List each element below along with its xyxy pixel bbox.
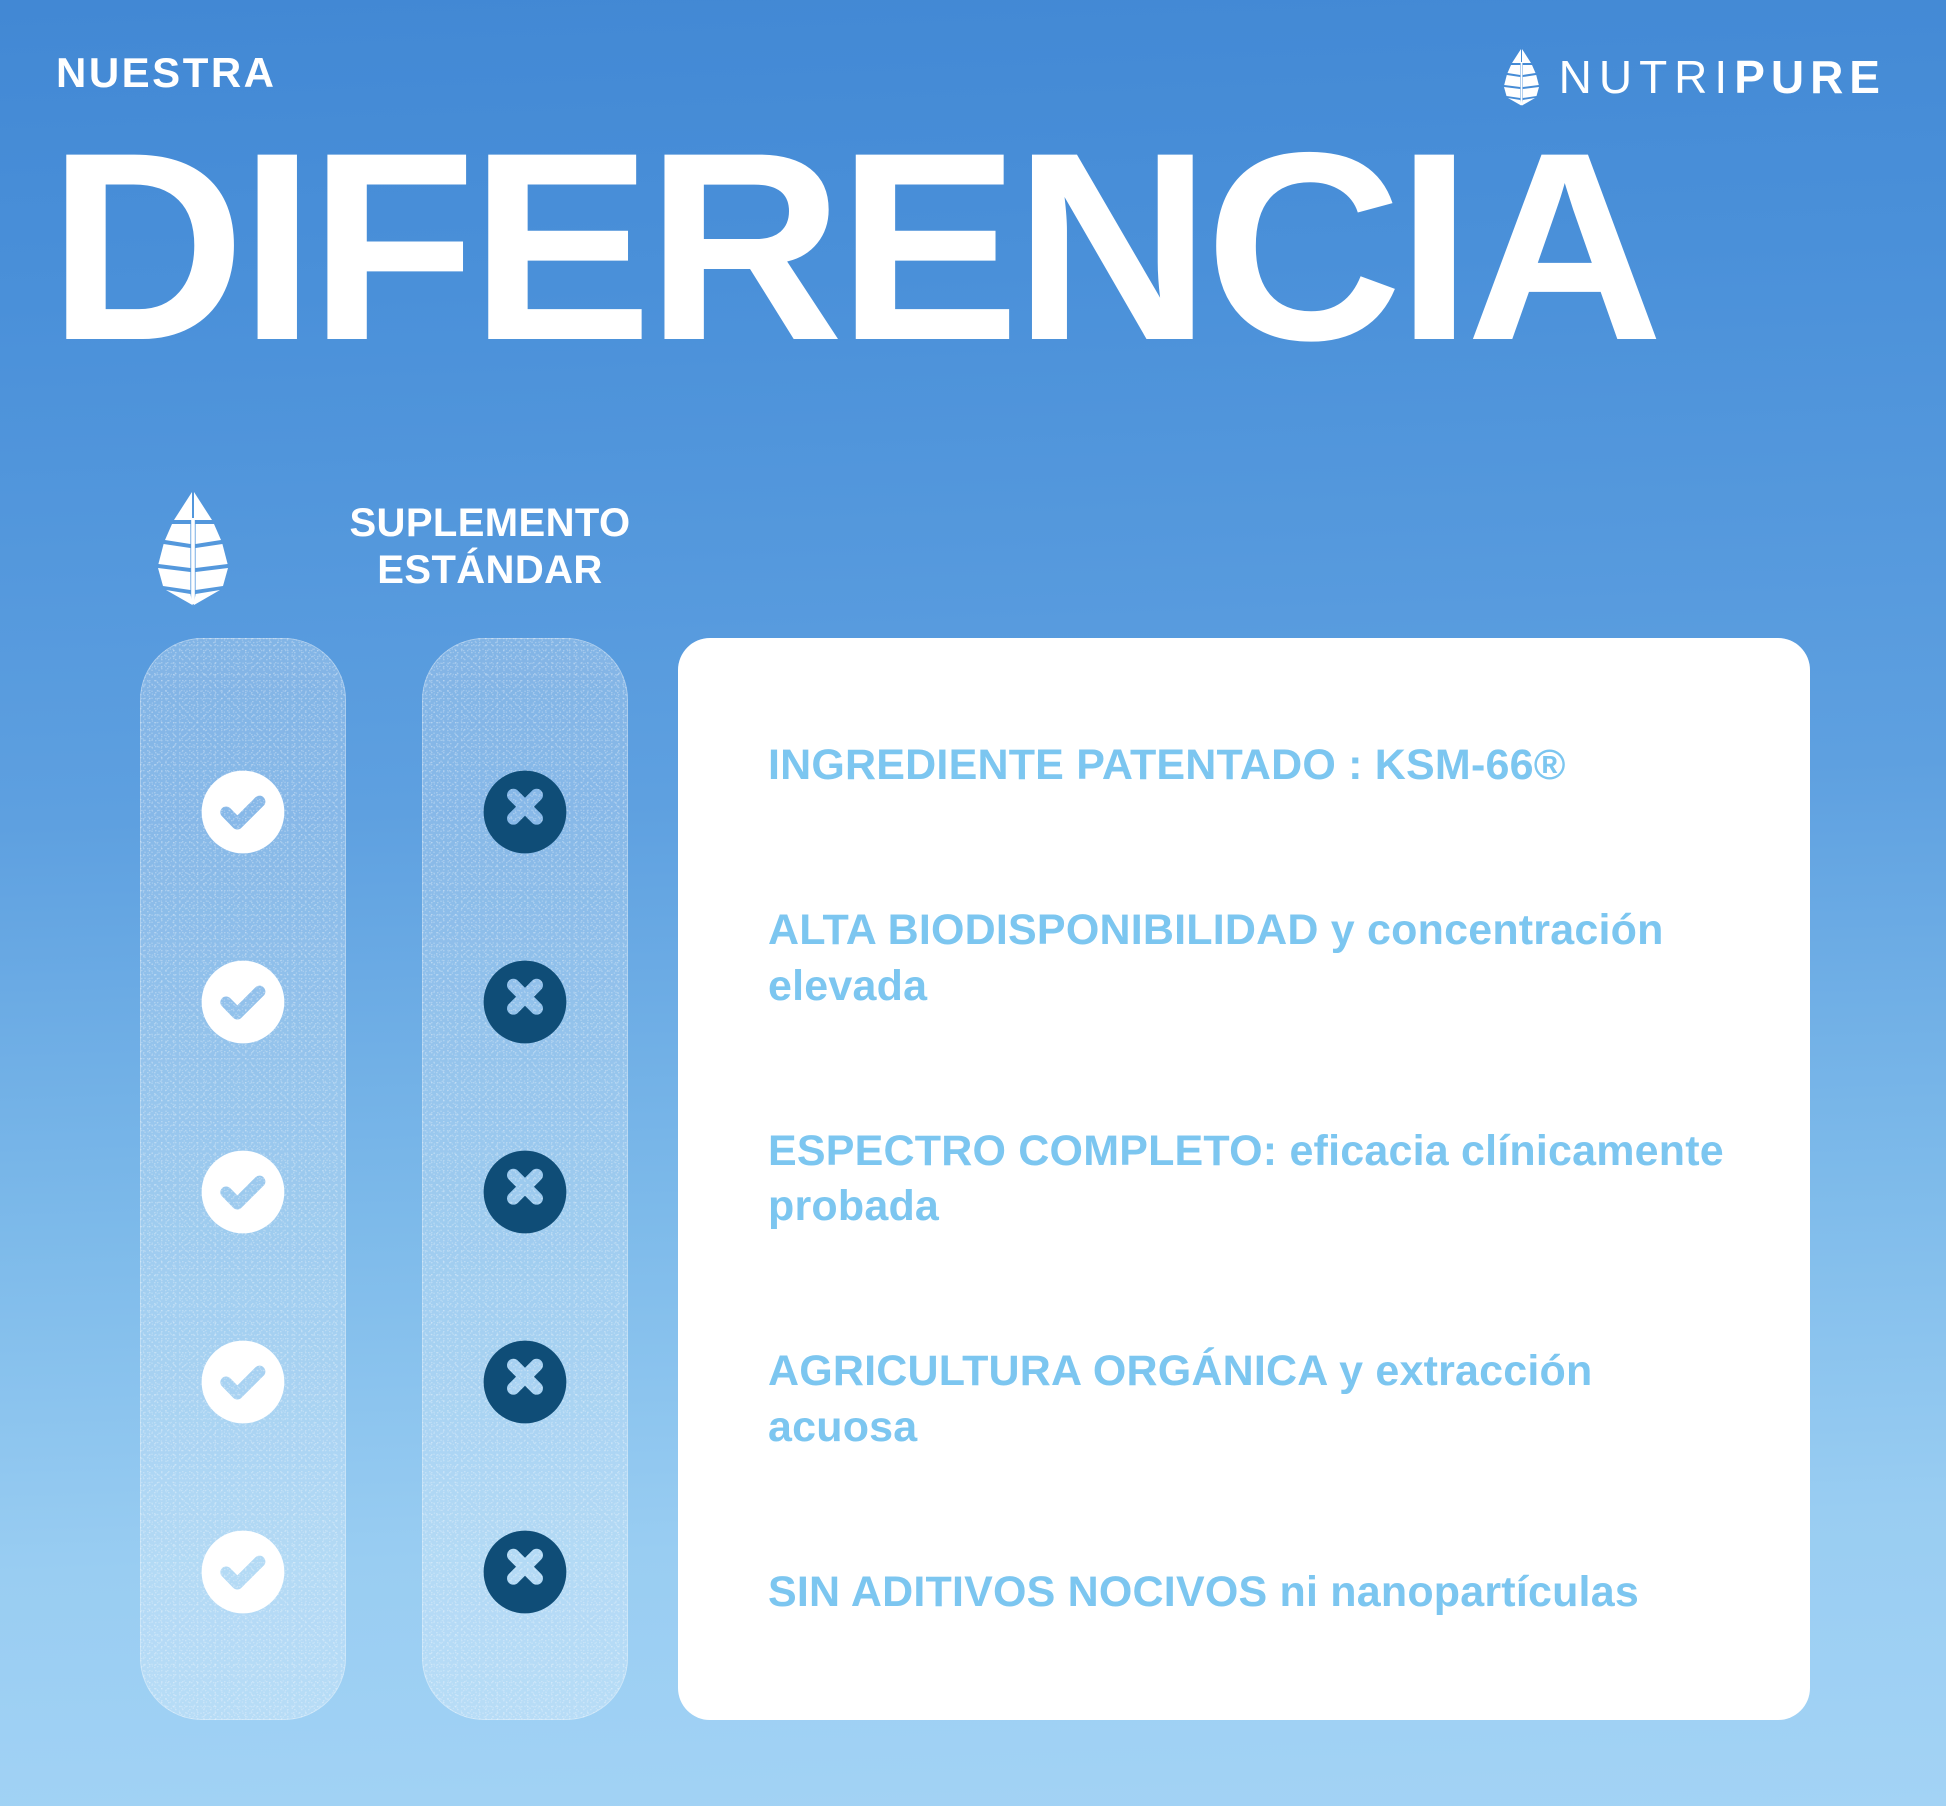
x-circle-icon — [481, 1338, 569, 1426]
benefit-item: ESPECTRO COMPLETO: eficacia clínicamente… — [768, 1124, 1740, 1234]
column-ours-marks — [140, 638, 346, 1720]
benefit-item: AGRICULTURA ORGÁNICA y extracción acuosa — [768, 1344, 1740, 1454]
brand-name-bold: PURE — [1734, 51, 1886, 103]
check-circle-icon — [199, 958, 287, 1046]
check-mark-slot — [140, 1148, 346, 1338]
page-title: DIFERENCIA — [48, 112, 1657, 380]
brand-logo: NUTRIPURE — [1501, 48, 1886, 106]
x-circle-icon — [481, 1528, 569, 1616]
benefit-strong: ALTA BIODISPONIBILIDAD — [768, 906, 1319, 954]
benefit-item: INGREDIENTE PATENTADO : KSM-66® — [768, 738, 1740, 793]
x-circle-icon — [481, 958, 569, 1046]
benefit-rest: ni nanopartículas — [1267, 1568, 1639, 1616]
cross-mark-slot — [422, 1338, 628, 1528]
x-circle-icon — [481, 768, 569, 856]
column-heading-ours-icon — [152, 490, 236, 606]
check-mark-slot — [140, 1338, 346, 1528]
check-mark-slot — [140, 958, 346, 1148]
benefit-item: SIN ADITIVOS NOCIVOS ni nanopartículas — [768, 1565, 1740, 1620]
kicker-text: NUESTRA — [56, 52, 277, 94]
check-mark-slot — [140, 1528, 346, 1718]
benefit-strong: INGREDIENTE PATENTADO : KSM-66® — [768, 741, 1566, 789]
benefit-strong: SIN ADITIVOS NOCIVOS — [768, 1568, 1267, 1616]
benefit-item: ALTA BIODISPONIBILIDAD y concentración e… — [768, 903, 1740, 1013]
check-mark-slot — [140, 768, 346, 958]
cross-mark-slot — [422, 768, 628, 958]
benefit-strong: ESPECTRO COMPLETO: — [768, 1127, 1277, 1175]
leaf-icon — [1501, 48, 1543, 106]
check-circle-icon — [199, 1148, 287, 1236]
brand-wordmark: NUTRIPURE — [1559, 54, 1886, 100]
cross-mark-slot — [422, 958, 628, 1148]
check-circle-icon — [199, 768, 287, 856]
check-circle-icon — [199, 1528, 287, 1616]
x-circle-icon — [481, 1148, 569, 1236]
benefit-strong: AGRICULTURA ORGÁNICA — [768, 1347, 1327, 1395]
column-heading-standard-label: SUPLEMENTO ESTÁNDAR — [330, 500, 650, 594]
check-circle-icon — [199, 1338, 287, 1426]
column-standard — [422, 638, 628, 1720]
benefits-list: INGREDIENTE PATENTADO : KSM-66® ALTA BIO… — [768, 738, 1740, 1620]
benefits-card: INGREDIENTE PATENTADO : KSM-66® ALTA BIO… — [678, 638, 1810, 1720]
cross-mark-slot — [422, 1148, 628, 1338]
infographic-canvas: NUESTRA DIFERENCIA — [0, 0, 1946, 1806]
brand-name-light: NUTRI — [1559, 51, 1735, 103]
column-standard-marks — [422, 638, 628, 1720]
column-ours — [140, 638, 346, 1720]
cross-mark-slot — [422, 1528, 628, 1718]
